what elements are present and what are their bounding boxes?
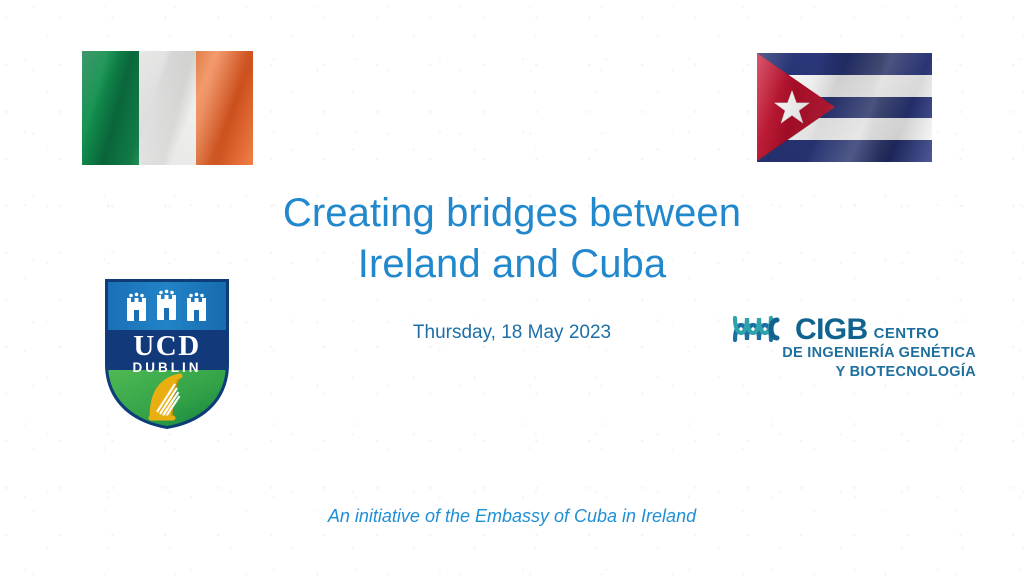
ucd-wordmark: UCD [133, 330, 200, 362]
ucd-dublin-text: DUBLIN [133, 360, 202, 375]
cuba-white-star [773, 89, 811, 127]
title-line-1: Creating bridges between [0, 188, 1024, 239]
cigb-line-3: Y BIOTECNOLOGÍA [733, 363, 976, 382]
slide-tagline: An initiative of the Embassy of Cuba in … [0, 506, 1024, 527]
ireland-stripe-green [82, 51, 139, 165]
presentation-slide: Creating bridges between Ireland and Cub… [0, 0, 1024, 576]
ireland-stripe-white [139, 51, 196, 165]
cigb-top-row: CIGB CENTRO [733, 310, 976, 344]
flag-ireland [82, 51, 253, 165]
ireland-stripe-orange [196, 51, 253, 165]
cigb-logo: CIGB CENTRO DE INGENIERÍA GENÉTICA Y BIO… [733, 310, 976, 390]
cigb-wordmark: CIGB [795, 316, 868, 345]
ireland-stripes [82, 51, 253, 165]
ucd-logo: UCD DUBLIN [104, 278, 230, 430]
page-title: Creating bridges between Ireland and Cub… [0, 188, 1024, 290]
cigb-line-2: DE INGENIERÍA GENÉTICA [733, 344, 976, 363]
cigb-centro-text: CENTRO [874, 325, 940, 344]
flag-cuba [757, 53, 932, 162]
dna-helix-icon [733, 314, 797, 344]
